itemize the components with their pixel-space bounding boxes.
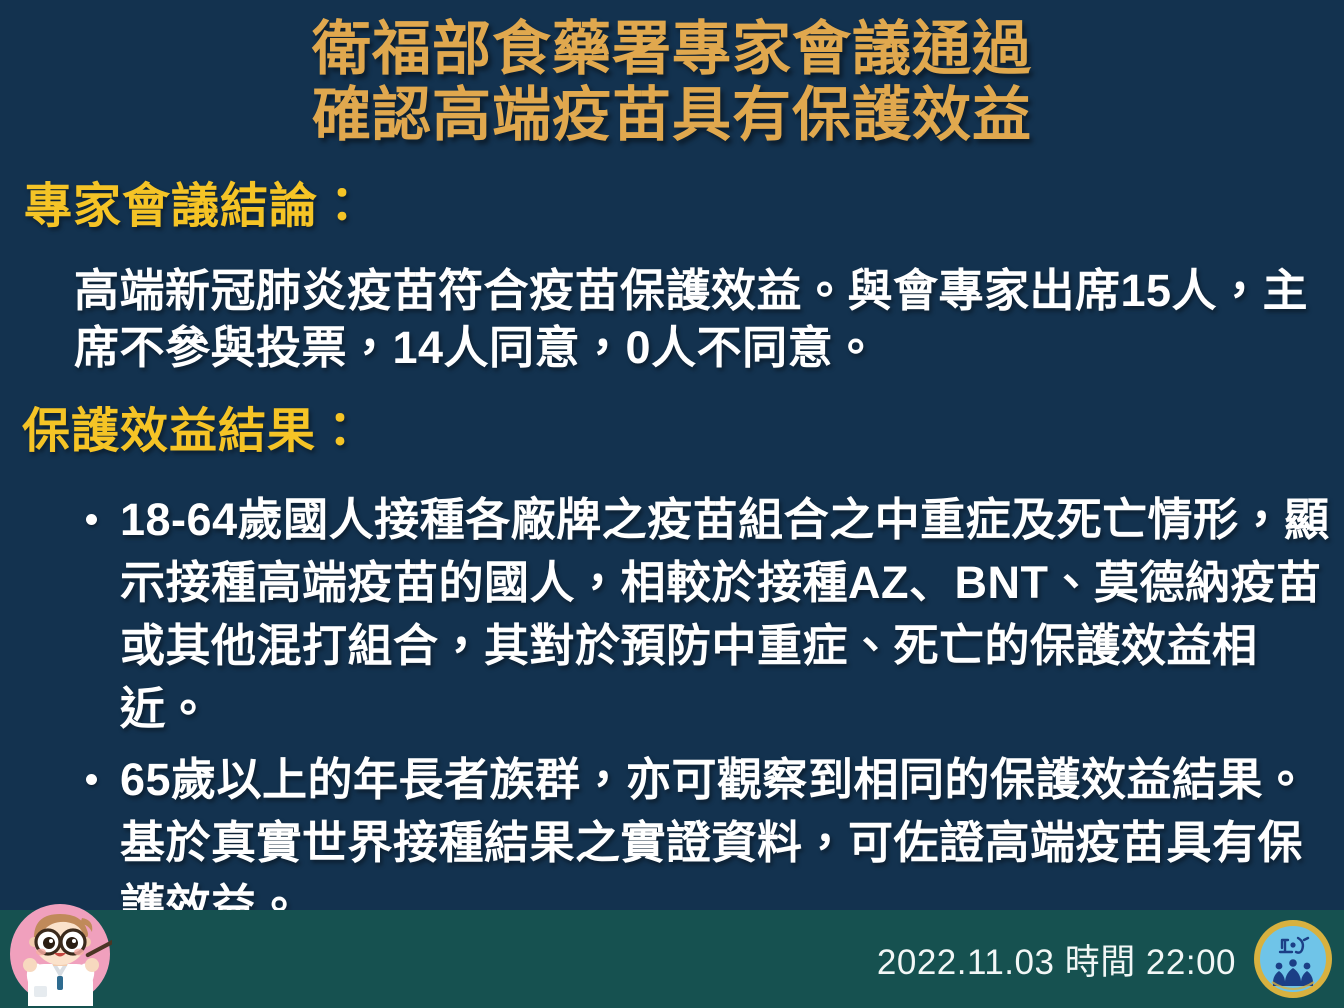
footer-bar: 2022.11.03 時間 22:00 <box>0 910 1344 1008</box>
bullet-dot-icon <box>62 488 120 530</box>
title-line-2: 確認高端疫苗具有保護效益 <box>0 82 1344 148</box>
slide-title: 衛福部食藥署專家會議通過 確認高端疫苗具有保護效益 <box>0 16 1344 148</box>
title-line-1: 衛福部食藥署專家會議通過 <box>0 16 1344 82</box>
section-heading-conclusion: 專家會議結論： <box>24 179 367 235</box>
list-item: 18-64歲國人接種各廠牌之疫苗組合之中重症及死亡情形，顯示接種高端疫苗的國人，… <box>62 488 1342 740</box>
section-heading-results: 保護效益結果： <box>22 404 365 460</box>
bullet-dot-icon <box>62 748 120 790</box>
results-bullet-list: 18-64歲國人接種各廠牌之疫苗組合之中重症及死亡情形，顯示接種高端疫苗的國人，… <box>62 488 1342 945</box>
ministry-of-health-and-welfare-emblem-icon <box>1252 918 1334 1000</box>
timestamp-label: 2022.11.03 時間 22:00 <box>877 910 1236 1008</box>
doctor-mascot-icon <box>8 902 112 1006</box>
list-item-text: 65歲以上的年長者族群，亦可觀察到相同的保護效益結果。基於真實世界接種結果之實證… <box>120 748 1342 937</box>
list-item-text: 18-64歲國人接種各廠牌之疫苗組合之中重症及死亡情形，顯示接種高端疫苗的國人，… <box>120 488 1342 740</box>
list-item: 65歲以上的年長者族群，亦可觀察到相同的保護效益結果。基於真實世界接種結果之實證… <box>62 748 1342 937</box>
presentation-slide: 衛福部食藥署專家會議通過 確認高端疫苗具有保護效益 專家會議結論： 高端新冠肺炎… <box>0 0 1344 1008</box>
conclusion-paragraph: 高端新冠肺炎疫苗符合疫苗保護效益。與會專家出席15人，主席不參與投票，14人同意… <box>74 262 1332 376</box>
